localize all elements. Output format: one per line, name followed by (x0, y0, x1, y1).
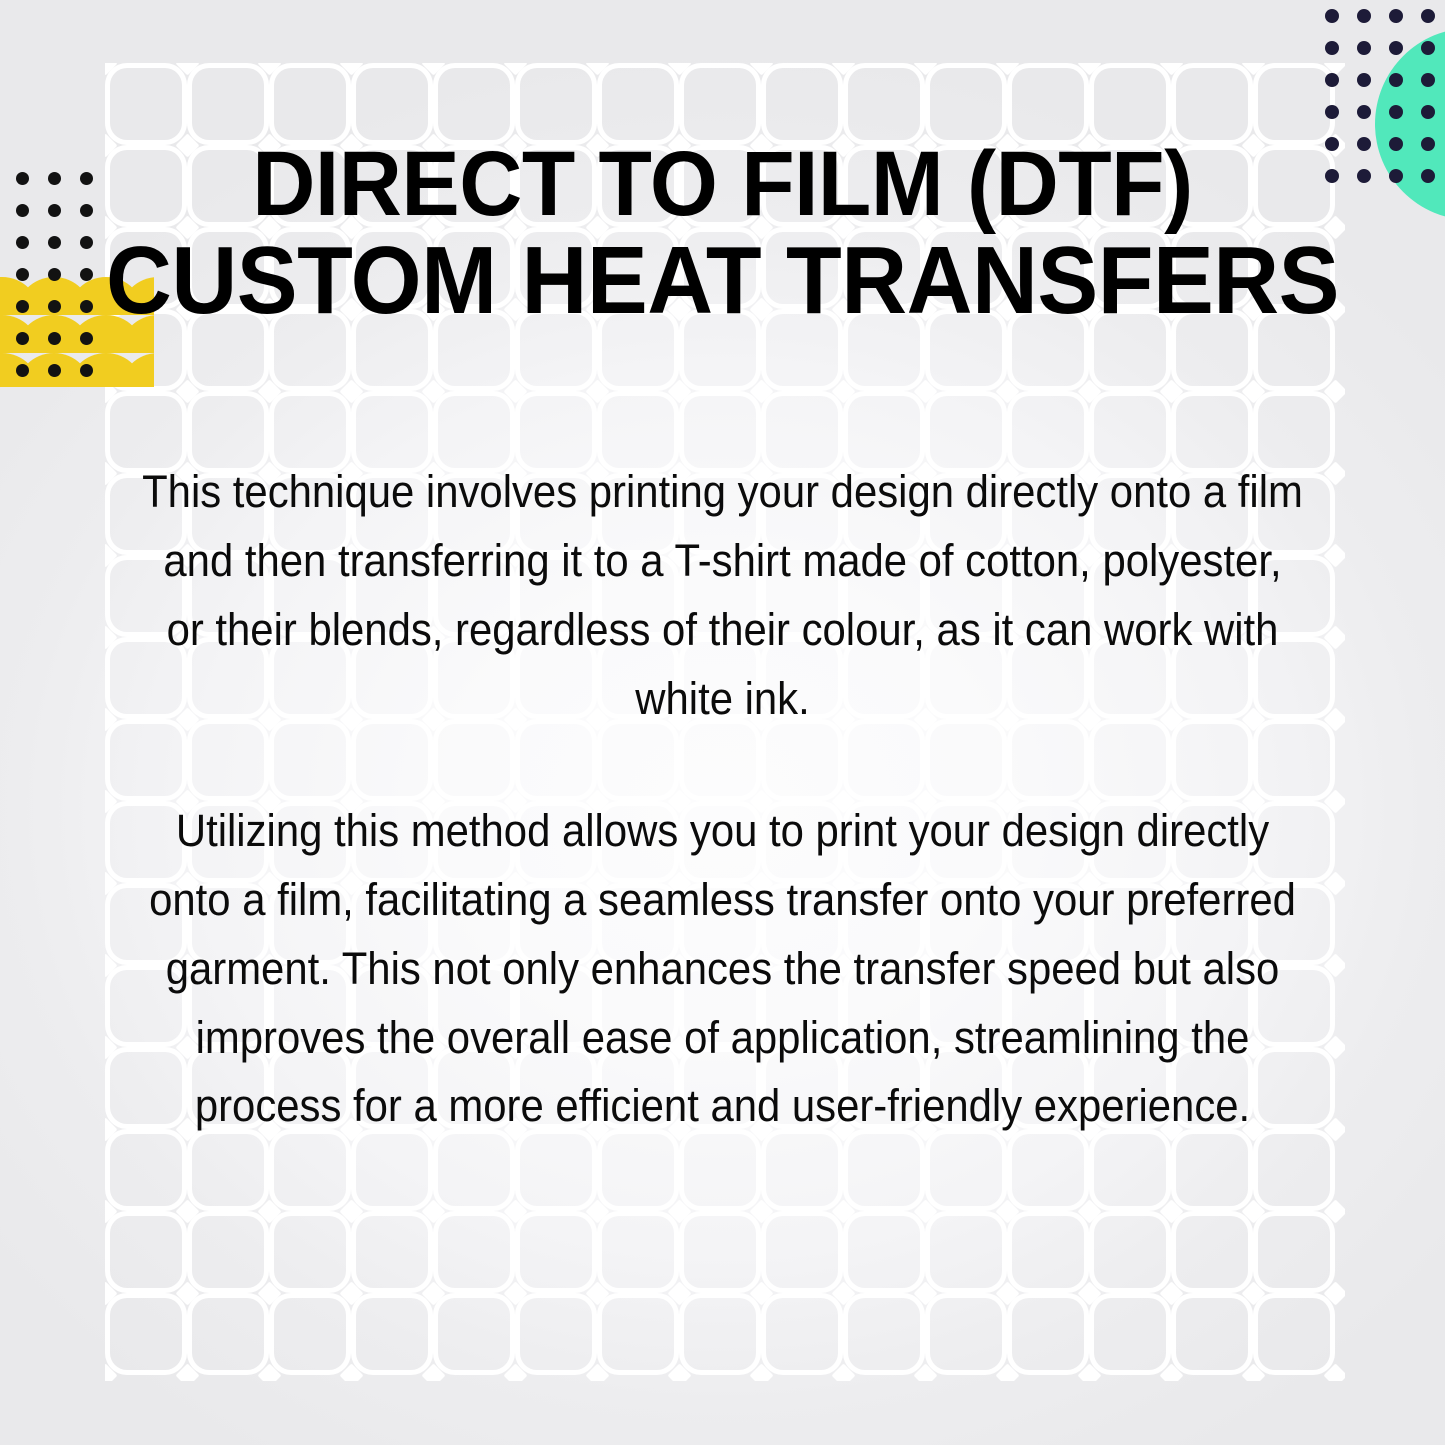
poster-canvas: DIRECT TO FILM (DTF) CUSTOM HEAT TRANSFE… (0, 0, 1445, 1445)
body-paragraph-2: Utilizing this method allows you to prin… (140, 797, 1305, 1141)
page-title: DIRECT TO FILM (DTF) CUSTOM HEAT TRANSFE… (36, 138, 1409, 330)
body-paragraph-1: This technique involves printing your de… (140, 458, 1305, 733)
poster-content: DIRECT TO FILM (DTF) CUSTOM HEAT TRANSFE… (0, 0, 1445, 1445)
title-line-1: DIRECT TO FILM (DTF) (36, 138, 1409, 232)
title-line-2: CUSTOM HEAT TRANSFERS (36, 232, 1409, 330)
